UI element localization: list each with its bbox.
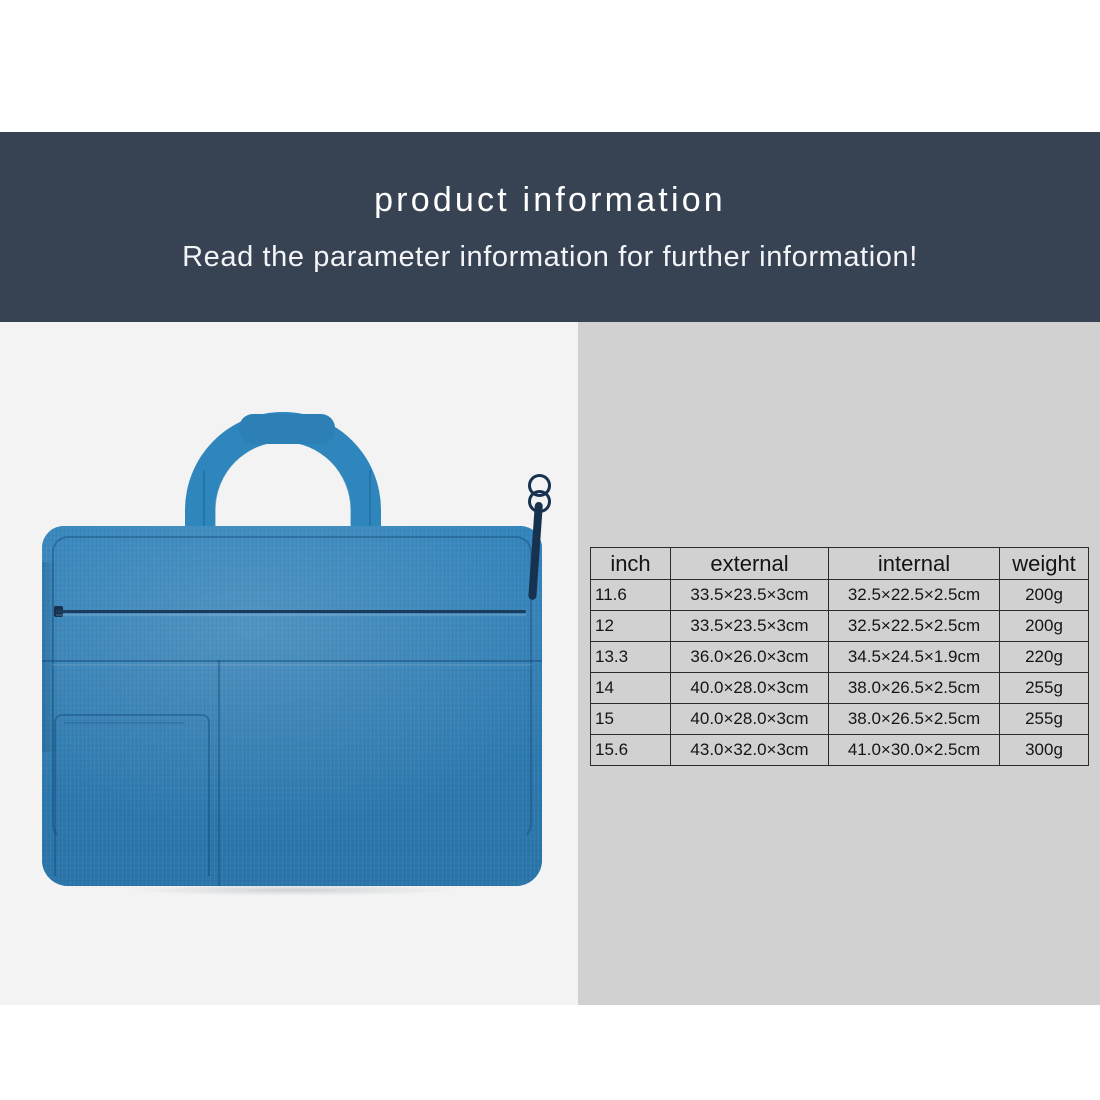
cell-internal: 38.0×26.5×2.5cm [829, 673, 1000, 704]
zipper-pull-strap [528, 502, 543, 600]
column-header-weight: weight [1000, 548, 1089, 580]
specification-table: inch external internal weight 11.6 33.5×… [590, 547, 1089, 766]
page-banner: product information Read the parameter i… [0, 132, 1100, 322]
cell-internal: 41.0×30.0×2.5cm [829, 735, 1000, 766]
cell-weight: 255g [1000, 673, 1089, 704]
cell-external: 33.5×23.5×3cm [671, 580, 829, 611]
zipper-pull-icon [526, 474, 560, 604]
cell-inch: 14 [591, 673, 671, 704]
column-header-external: external [671, 548, 829, 580]
table-row: 14 40.0×28.0×3cm 38.0×26.5×2.5cm 255g [591, 673, 1089, 704]
cell-inch: 15.6 [591, 735, 671, 766]
bag-body [42, 526, 542, 886]
cell-inch: 12 [591, 611, 671, 642]
cell-external: 36.0×26.0×3cm [671, 642, 829, 673]
cell-weight: 200g [1000, 580, 1089, 611]
cell-external: 43.0×32.0×3cm [671, 735, 829, 766]
table-row: 15.6 43.0×32.0×3cm 41.0×30.0×2.5cm 300g [591, 735, 1089, 766]
main-zipper-highlight [56, 614, 526, 616]
table-row: 13.3 36.0×26.0×3cm 34.5×24.5×1.9cm 220g [591, 642, 1089, 673]
page-subtitle: Read the parameter information for furth… [182, 243, 918, 272]
cell-weight: 300g [1000, 735, 1089, 766]
front-pocket-seam [42, 660, 542, 662]
page-title: product information [374, 183, 726, 217]
product-image-panel [0, 322, 578, 1005]
cell-inch: 13.3 [591, 642, 671, 673]
column-header-internal: internal [829, 548, 1000, 580]
table-row: 11.6 33.5×23.5×3cm 32.5×22.5×2.5cm 200g [591, 580, 1089, 611]
spec-table-container: inch external internal weight 11.6 33.5×… [590, 547, 1088, 766]
cell-weight: 200g [1000, 611, 1089, 642]
cell-inch: 11.6 [591, 580, 671, 611]
cell-external: 33.5×23.5×3cm [671, 611, 829, 642]
cell-weight: 255g [1000, 704, 1089, 735]
laptop-bag-illustration [42, 400, 542, 890]
slip-pocket-inner-seam [64, 722, 184, 724]
cell-weight: 220g [1000, 642, 1089, 673]
cell-internal: 32.5×22.5×2.5cm [829, 580, 1000, 611]
cell-inch: 15 [591, 704, 671, 735]
cell-external: 40.0×28.0×3cm [671, 673, 829, 704]
table-header-row: inch external internal weight [591, 548, 1089, 580]
cell-internal: 38.0×26.5×2.5cm [829, 704, 1000, 735]
pocket-divider-seam [218, 660, 220, 886]
cell-internal: 32.5×22.5×2.5cm [829, 611, 1000, 642]
product-information-page: product information Read the parameter i… [0, 0, 1100, 1100]
column-header-inch: inch [591, 548, 671, 580]
cell-internal: 34.5×24.5×1.9cm [829, 642, 1000, 673]
cell-external: 40.0×28.0×3cm [671, 704, 829, 735]
content-panels: inch external internal weight 11.6 33.5×… [0, 322, 1100, 1005]
main-zipper-line [56, 610, 526, 613]
front-pocket-seam-highlight [52, 664, 532, 666]
table-row: 15 40.0×28.0×3cm 38.0×26.5×2.5cm 255g [591, 704, 1089, 735]
slip-pocket-outline [54, 714, 210, 876]
table-row: 12 33.5×23.5×3cm 32.5×22.5×2.5cm 200g [591, 611, 1089, 642]
handle-grip [239, 414, 335, 444]
specification-panel: inch external internal weight 11.6 33.5×… [578, 322, 1100, 1005]
